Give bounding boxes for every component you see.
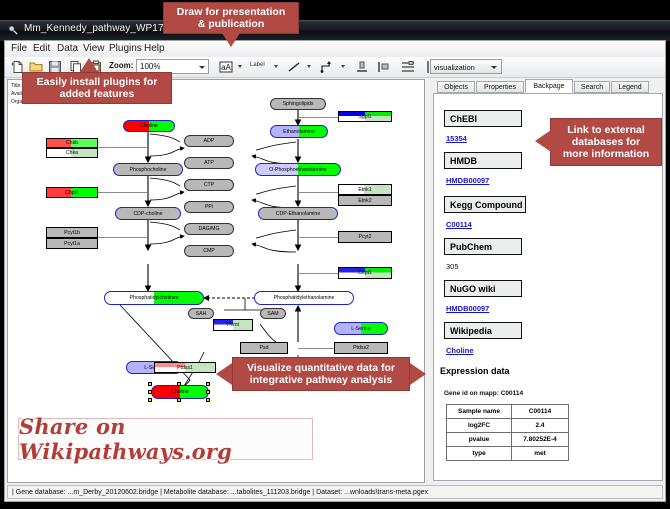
chevron-down-icon[interactable] bbox=[341, 65, 345, 68]
expression-data-heading: Expression data bbox=[440, 366, 510, 376]
callout-share-wikipathways: Share on Wikipathways.org bbox=[18, 418, 313, 460]
value-pubchem: 305 bbox=[446, 262, 459, 271]
zoom-label: Zoom: bbox=[109, 61, 133, 70]
section-header-nugo-wiki: NuGO wiki bbox=[444, 280, 522, 297]
callout-draw-for-publication: Draw for presentation & publication bbox=[163, 2, 299, 34]
chevron-down-icon[interactable] bbox=[238, 65, 242, 68]
align-bottom-icon[interactable] bbox=[355, 60, 369, 74]
table-row: Sample name C00114 bbox=[447, 405, 569, 419]
node-phosphatidylethanolamine[interactable]: Phosphatidylethanolamine bbox=[254, 291, 354, 305]
gene-etnk1[interactable]: Etnk1 bbox=[338, 184, 392, 195]
gene-connector bbox=[298, 348, 338, 349]
callout-link-db-arrow bbox=[535, 130, 551, 152]
status-bar: | Gene database: ...m_Derby_20120602.bri… bbox=[7, 485, 663, 499]
node-ppi[interactable]: PPi bbox=[184, 201, 234, 213]
gene-ptdss1-label: Ptdss1 bbox=[177, 365, 193, 371]
gene-connector bbox=[298, 273, 338, 274]
table-row: pvalue 7.80252E-4 bbox=[447, 433, 569, 447]
callout-link-external-db: Link to external databases for more info… bbox=[550, 118, 662, 166]
gene-pcyt1a[interactable]: Pcyt1a bbox=[46, 238, 98, 249]
cell-pvalue-label: pvalue bbox=[447, 433, 512, 447]
node-sphingolipids[interactable]: Sphingolipids bbox=[270, 98, 326, 110]
align-left-icon[interactable] bbox=[377, 60, 391, 74]
tab-legend[interactable]: Legend bbox=[611, 81, 649, 93]
node-atp[interactable]: ATP bbox=[184, 157, 234, 169]
menu-view[interactable]: View bbox=[83, 43, 105, 54]
section-header-chebi: ChEBI bbox=[444, 110, 522, 127]
app-window: Mm_Kennedy_pathway_WP1771_45176.gpml Fil… bbox=[0, 0, 670, 509]
line-icon[interactable] bbox=[287, 60, 301, 74]
link-kegg-compound[interactable]: C00114 bbox=[446, 220, 472, 229]
node-phosphatidylcholines[interactable]: Phosphatidylcholines bbox=[104, 291, 204, 305]
tab-objects[interactable]: Objects bbox=[437, 81, 475, 93]
selection-handle-s[interactable] bbox=[177, 398, 181, 402]
link-wikipedia[interactable]: Choline bbox=[446, 346, 474, 355]
callout-draw-arrow bbox=[222, 33, 240, 47]
node-sam[interactable]: SAM bbox=[260, 308, 286, 319]
selection-handle-ne[interactable] bbox=[206, 382, 210, 386]
menu-plugins[interactable]: Plugins bbox=[109, 43, 142, 54]
link-hmdb[interactable]: HMDB00097 bbox=[446, 176, 489, 185]
cell-sample-name-value: C00114 bbox=[512, 405, 569, 419]
cell-pvalue-value: 7.80252E-4 bbox=[512, 433, 569, 447]
node-cmp[interactable]: CMP bbox=[184, 245, 234, 257]
node-cdp-ethanolamine[interactable]: CDP-Ethanolamine bbox=[258, 207, 338, 220]
gene-pemt-label: Pemt bbox=[227, 322, 239, 328]
canvas-title-label: Title: bbox=[11, 83, 22, 89]
callout-visualize-arrow-left bbox=[216, 363, 232, 385]
callout-plugins-arrow bbox=[80, 58, 98, 72]
tab-properties[interactable]: Properties bbox=[476, 81, 524, 93]
visualization-value: visualization bbox=[434, 63, 475, 72]
node-o-phosphoethanolamine[interactable]: O-Phosphoethanolamine bbox=[255, 163, 341, 176]
selection-handle-n[interactable] bbox=[177, 382, 181, 386]
menu-edit[interactable]: Edit bbox=[33, 43, 50, 54]
gene-sgpl1-label: Sgpl1 bbox=[358, 114, 371, 120]
menubar: File Edit Data View Plugins Help bbox=[5, 41, 665, 58]
node-dag-mg[interactable]: DAG/MG bbox=[184, 223, 234, 235]
gene-ptdss1[interactable]: Ptdss1 bbox=[154, 362, 216, 373]
section-header-hmdb: HMDB bbox=[444, 152, 522, 169]
selection-handle-w[interactable] bbox=[148, 390, 152, 394]
section-header-kegg-compound: Kegg Compound bbox=[444, 196, 526, 213]
gene-connector bbox=[298, 237, 338, 238]
table-row: log2FC 2.4 bbox=[447, 419, 569, 433]
distribute-vertical-icon[interactable] bbox=[401, 60, 415, 74]
text-label-icon[interactable]: aA bbox=[219, 60, 233, 74]
cell-type-label: type bbox=[447, 447, 512, 461]
gene-pemt[interactable]: Pemt bbox=[213, 319, 253, 331]
link-nugo-wiki[interactable]: HMDB00097 bbox=[446, 304, 489, 313]
section-header-pubchem: PubChem bbox=[444, 238, 522, 255]
link-chebi[interactable]: 15354 bbox=[446, 134, 467, 143]
gene-connector bbox=[298, 192, 338, 193]
selection-handle-e[interactable] bbox=[206, 390, 210, 394]
chevron-down-icon[interactable] bbox=[307, 65, 311, 68]
expression-data-table: Sample name C00114 log2FC 2.4 pvalue 7.8… bbox=[446, 404, 569, 461]
node-l-serine-right[interactable]: L-Serine bbox=[334, 322, 388, 335]
node-sah[interactable]: SAH bbox=[188, 308, 214, 319]
gene-ptdss2[interactable]: Ptdss2 bbox=[334, 342, 388, 354]
node-ethanolamine[interactable]: Ethanolamine bbox=[270, 125, 328, 138]
chevron-down-icon[interactable] bbox=[274, 65, 278, 68]
node-choline[interactable]: Choline bbox=[123, 120, 175, 132]
chevron-down-icon bbox=[491, 66, 497, 69]
menu-file[interactable]: File bbox=[11, 43, 27, 54]
section-header-wikipedia: Wikipedia bbox=[444, 322, 522, 339]
zoom-value: 100% bbox=[140, 62, 160, 71]
visualization-combobox[interactable]: visualization bbox=[430, 59, 502, 74]
selection-handle-nw[interactable] bbox=[148, 382, 152, 386]
menu-help[interactable]: Help bbox=[144, 43, 165, 54]
node-adp[interactable]: ADP bbox=[184, 135, 234, 147]
table-row: type met bbox=[447, 447, 569, 461]
chevron-down-icon bbox=[199, 66, 205, 69]
gene-psd[interactable]: Psd bbox=[240, 342, 288, 354]
svg-text:aA: aA bbox=[221, 63, 231, 72]
pathvisio-app-icon bbox=[8, 25, 19, 36]
tab-backpage[interactable]: Backpage bbox=[525, 79, 573, 93]
side-panel-tabstrip: Objects Properties Backpage Search Legen… bbox=[433, 79, 663, 93]
node-choline-selected[interactable]: Choline bbox=[151, 385, 209, 399]
label-dropdown-label[interactable]: Label bbox=[250, 62, 265, 68]
menu-data[interactable]: Data bbox=[57, 43, 78, 54]
selection-handle-se[interactable] bbox=[206, 398, 210, 402]
node-phosphocholine[interactable]: Phosphocholine bbox=[113, 163, 183, 176]
node-cdp-choline[interactable]: CDP-choline bbox=[115, 207, 181, 220]
gene-cept1[interactable]: Cept1 bbox=[338, 267, 392, 279]
tab-search[interactable]: Search bbox=[574, 81, 610, 93]
gene-pcyt1b[interactable]: Pcyt1b bbox=[46, 227, 98, 238]
callout-visualize-arrow-right bbox=[410, 363, 426, 385]
gene-cept1-label: Cept1 bbox=[358, 270, 372, 276]
gene-id-on-mapp: Gene id on mapp: C00114 bbox=[444, 390, 523, 397]
cell-log2fc-label: log2FC bbox=[447, 419, 512, 433]
gene-chkb[interactable]: Chkb bbox=[46, 138, 98, 148]
cell-type-value: met bbox=[512, 447, 569, 461]
gene-sgpl1[interactable]: Sgpl1 bbox=[338, 111, 392, 122]
gene-connector bbox=[298, 117, 338, 118]
gene-chka[interactable]: Chka bbox=[46, 148, 98, 158]
callout-install-plugins: Easily install plugins for added feature… bbox=[22, 72, 172, 104]
selection-handle-sw[interactable] bbox=[148, 398, 152, 402]
cell-log2fc-value: 2.4 bbox=[512, 419, 569, 433]
gene-chpt1[interactable]: Chpt1 bbox=[46, 187, 98, 198]
gene-etnk2[interactable]: Etnk2 bbox=[338, 195, 392, 206]
callout-visualize-quantitative: Visualize quantitative data for integrat… bbox=[232, 357, 410, 391]
connector-icon[interactable] bbox=[319, 60, 333, 74]
gene-pcyt2[interactable]: Pcyt2 bbox=[338, 231, 392, 243]
cell-sample-name-label: Sample name bbox=[447, 405, 512, 419]
node-ctp[interactable]: CTP bbox=[184, 179, 234, 191]
share-text: Share on Wikipathways.org bbox=[19, 414, 312, 464]
